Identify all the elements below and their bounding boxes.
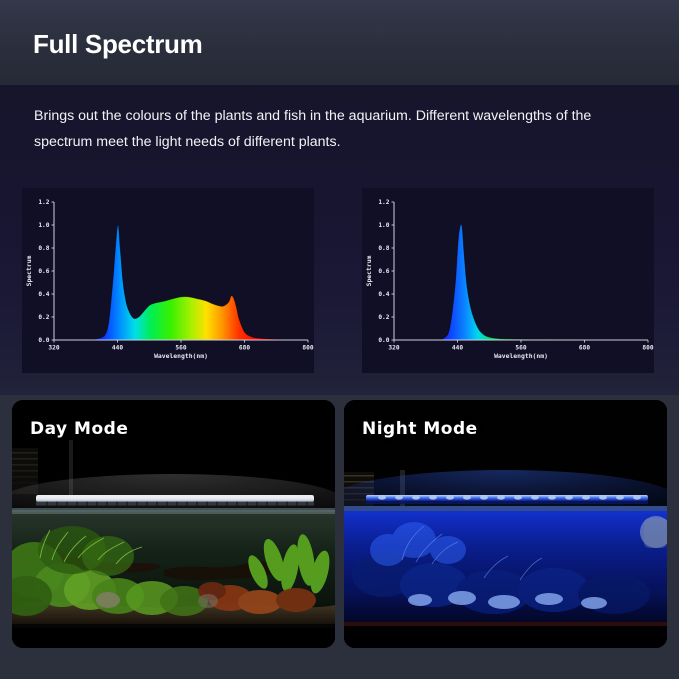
svg-text:0.8: 0.8: [38, 245, 49, 252]
chart-night-blue: 0.00.20.40.60.81.01.2320440560680800Wave…: [362, 188, 654, 373]
night-mode-label: Night Mode: [362, 419, 478, 439]
chart-2-svg: 0.00.20.40.60.81.01.2320440560680800Wave…: [362, 188, 654, 373]
svg-text:680: 680: [239, 345, 250, 352]
bottom-strip: [0, 648, 679, 679]
svg-text:0.4: 0.4: [38, 291, 49, 298]
page-title: Full Spectrum: [33, 29, 202, 60]
svg-text:1.0: 1.0: [378, 222, 389, 229]
svg-text:0.4: 0.4: [378, 291, 389, 298]
svg-text:Wavelength(nm): Wavelength(nm): [154, 352, 208, 360]
svg-text:0.2: 0.2: [378, 314, 389, 321]
header-band: Full Spectrum: [0, 0, 679, 85]
svg-text:0.6: 0.6: [38, 268, 49, 275]
svg-text:560: 560: [515, 345, 526, 352]
intro-paragraph: Brings out the colours of the plants and…: [34, 103, 634, 155]
svg-text:0.8: 0.8: [378, 245, 389, 252]
svg-text:800: 800: [642, 345, 653, 352]
svg-text:Wavelength(nm): Wavelength(nm): [494, 352, 548, 360]
svg-text:1.2: 1.2: [38, 199, 49, 206]
svg-text:1.2: 1.2: [378, 199, 389, 206]
svg-text:0.2: 0.2: [38, 314, 49, 321]
svg-text:0.6: 0.6: [378, 268, 389, 275]
panel-night-mode[interactable]: Night Mode: [344, 400, 667, 648]
chart-2-background: [362, 188, 654, 373]
svg-text:320: 320: [48, 345, 59, 352]
svg-text:1.0: 1.0: [38, 222, 49, 229]
chart-1-background: [22, 188, 314, 373]
chart-1-svg: 0.00.20.40.60.81.01.2320440560680800Wave…: [22, 188, 314, 373]
svg-text:800: 800: [302, 345, 313, 352]
panel-day-mode[interactable]: Day Mode: [12, 400, 335, 648]
svg-text:Spectrum: Spectrum: [365, 255, 373, 286]
product-detail-page: Full Spectrum Brings out the colours of …: [0, 0, 679, 679]
chart-full-spectrum: 0.00.20.40.60.81.01.2320440560680800Wave…: [22, 188, 314, 373]
svg-text:Spectrum: Spectrum: [25, 255, 33, 286]
svg-text:440: 440: [112, 345, 123, 352]
svg-text:680: 680: [579, 345, 590, 352]
svg-text:440: 440: [452, 345, 463, 352]
day-mode-label: Day Mode: [30, 419, 128, 439]
svg-text:560: 560: [175, 345, 186, 352]
svg-text:320: 320: [388, 345, 399, 352]
svg-text:0.0: 0.0: [378, 337, 389, 344]
svg-text:0.0: 0.0: [38, 337, 49, 344]
